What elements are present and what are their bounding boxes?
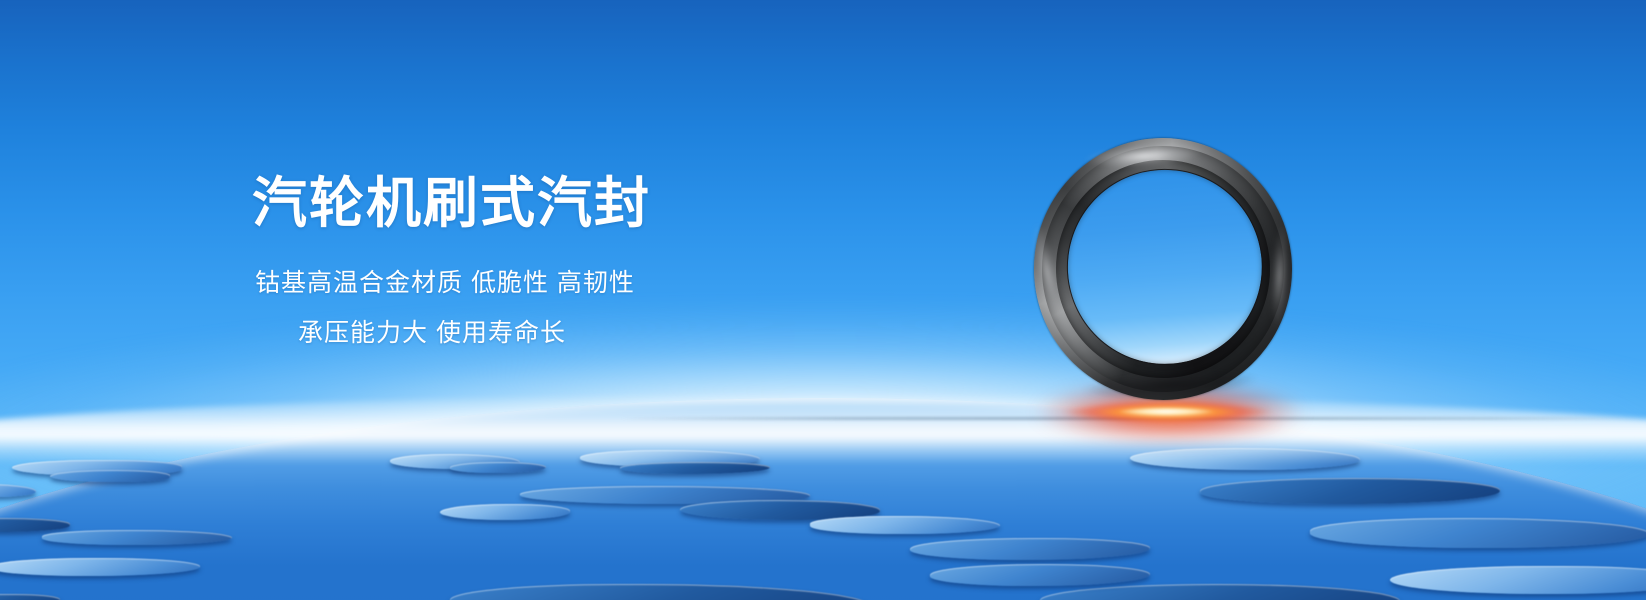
banner-headline: 汽轮机刷式汽封 <box>252 176 651 231</box>
landmass <box>50 470 170 482</box>
landmass <box>0 518 70 532</box>
landmass <box>450 584 870 600</box>
earth-graphic <box>0 0 1646 600</box>
landmass <box>910 538 1150 560</box>
landmass <box>1040 584 1400 600</box>
earth-limb-glow <box>0 394 1646 464</box>
product-banner: 汽轮机刷式汽封 钴基高温合金材质 低脆性 高韧性 承压能力大 使用寿命长 <box>0 0 1646 600</box>
landmass <box>0 594 60 600</box>
landmass <box>440 504 570 520</box>
landmass <box>42 530 232 545</box>
landmass <box>1310 518 1646 548</box>
landmass <box>1200 478 1500 504</box>
heat-flare-hotspot <box>1118 408 1214 415</box>
banner-subtitle-line-2: 承压能力大 使用寿命长 <box>298 321 566 346</box>
banner-subtitle-line-1: 钴基高温合金材质 低脆性 高韧性 <box>255 271 635 296</box>
landmass <box>930 564 1150 586</box>
landmass <box>1390 566 1646 594</box>
landmass <box>810 516 1000 534</box>
sealing-ring-product-image <box>1025 129 1301 408</box>
landmass <box>0 558 200 576</box>
landmass <box>0 484 36 497</box>
